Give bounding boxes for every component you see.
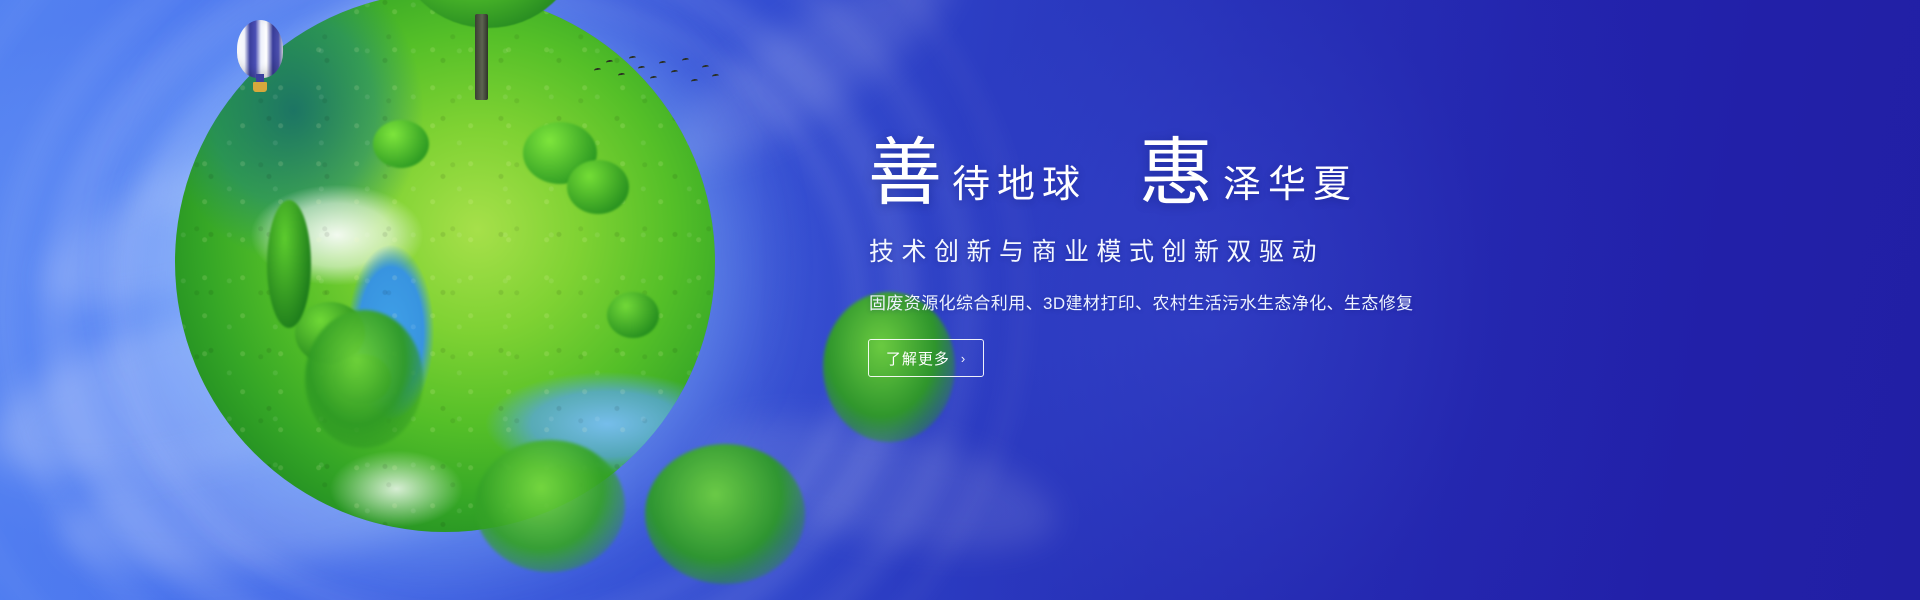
bird-icon xyxy=(594,68,601,73)
bird-icon xyxy=(682,58,689,63)
headline-rest-1: 待地球 xyxy=(952,166,1087,210)
tree-canopy xyxy=(607,292,659,338)
bird-flock-icon xyxy=(592,52,722,92)
hero-subtitle: 技术创新与商业模式创新双驱动 xyxy=(869,232,1622,268)
chevron-right-icon: › xyxy=(961,352,966,365)
bird-icon xyxy=(691,79,698,84)
learn-more-label: 了解更多 xyxy=(886,348,950,369)
foreground-tree xyxy=(645,444,805,584)
bird-icon xyxy=(671,70,678,75)
bird-icon xyxy=(629,56,636,61)
learn-more-button[interactable]: 了解更多 › xyxy=(868,339,984,377)
balloon-basket xyxy=(253,82,267,92)
bird-icon xyxy=(618,73,625,78)
tree-canopy xyxy=(373,120,429,168)
headline-brush-char-1: 善 xyxy=(868,139,942,210)
bird-icon xyxy=(659,61,666,66)
hero-description: 固废资源化综合利用、3D建材打印、农村生活污水生态净化、生态修复 xyxy=(869,289,1622,314)
tree-canopy xyxy=(567,160,629,214)
forest-ridge xyxy=(267,200,311,328)
bird-icon xyxy=(638,66,645,71)
bird-icon xyxy=(702,65,709,70)
bird-icon xyxy=(606,60,613,65)
bird-icon xyxy=(650,76,657,81)
foreground-tree xyxy=(475,440,625,572)
headline-brush-char-2: 惠 xyxy=(1139,139,1213,210)
bird-icon xyxy=(712,74,719,79)
balloon-envelope xyxy=(237,20,283,78)
tree-trunk xyxy=(475,14,488,100)
hot-air-balloon-icon xyxy=(237,20,283,98)
foreground-tree xyxy=(305,310,423,448)
hero-copy-block: 善 待地球 惠 泽华夏 技术创新与商业模式创新双驱动 固废资源化综合利用、3D建… xyxy=(862,118,1622,377)
headline-rest-2: 泽华夏 xyxy=(1223,166,1358,210)
page-title: 善 待地球 惠 泽华夏 xyxy=(868,118,1622,210)
hero-banner: 善 待地球 惠 泽华夏 技术创新与商业模式创新双驱动 固废资源化综合利用、3D建… xyxy=(0,0,1920,600)
